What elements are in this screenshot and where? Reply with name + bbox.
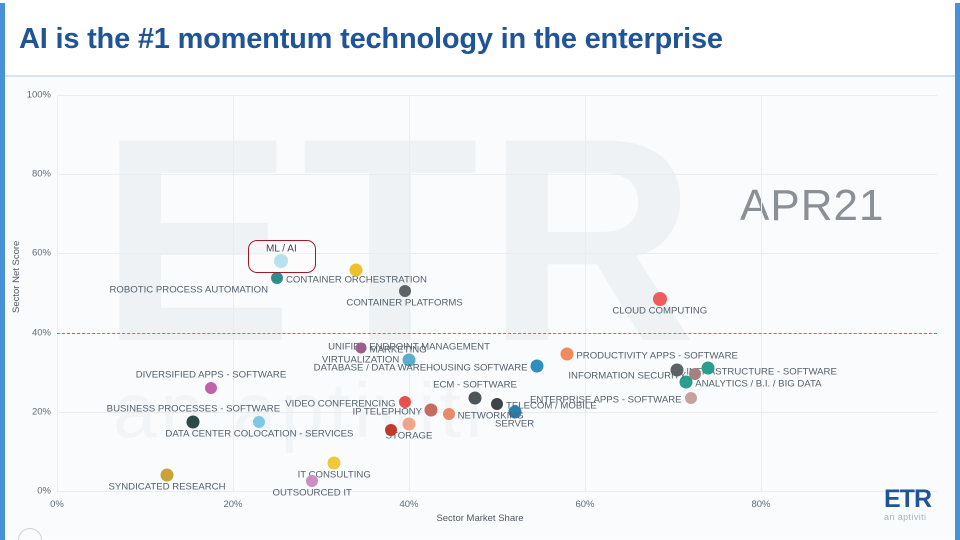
data-point[interactable] [271,272,283,284]
data-point-label: DATA CENTER COLOCATION - SERVICES [165,428,353,439]
data-point[interactable] [306,475,318,487]
data-point-label: ROBOTIC PROCESS AUTOMATION [110,284,269,295]
x-axis-tick: 60% [555,499,615,510]
data-point-label: PRODUCTIVITY APPS - SOFTWARE [576,351,738,362]
data-point[interactable] [355,343,366,354]
data-point[interactable] [469,391,482,404]
x-axis-tick: 80% [731,499,791,510]
data-point-label: DIVERSIFIED APPS - SOFTWARE [136,370,287,381]
data-point[interactable] [403,417,416,430]
data-point[interactable] [205,382,217,394]
y-axis-label: Sector Net Score [11,241,22,313]
data-point[interactable] [385,424,397,436]
x-gridline [761,95,762,491]
window-border-right [955,0,960,540]
data-point[interactable] [530,360,543,373]
data-point[interactable] [399,285,411,297]
slide-title-bar: AI is the #1 momentum technology in the … [5,3,955,77]
y-axis-tick: 80% [5,169,51,180]
plot-area: 0%20%40%60%80%100%0%20%40%60%80%CONTAINE… [57,95,937,491]
data-point[interactable] [253,416,265,428]
data-point[interactable] [702,362,715,375]
data-point[interactable] [653,292,667,306]
x-axis-tick: 40% [379,499,439,510]
etr-logo: ETR an aptiviti [884,487,950,529]
data-point-label: CONTAINER PLATFORMS [346,298,462,309]
data-point-label: CLOUD COMPUTING [612,305,707,316]
data-point[interactable] [187,415,200,428]
data-point[interactable] [350,264,363,277]
x-axis-label: Sector Market Share [5,513,955,524]
x-axis-tick: 0% [27,499,87,510]
y-gridline [57,253,937,254]
data-point[interactable] [425,403,438,416]
x-gridline [585,95,586,491]
data-point-label: ANALYTICS / B.I. / BIG DATA [695,379,821,390]
data-point[interactable] [491,398,503,410]
y-axis-tick: 100% [5,90,51,101]
etr-logo-mark: ETR [884,487,950,512]
page-title: AI is the #1 momentum technology in the … [19,23,723,56]
scatter-chart: ETR an aptiviti APR21 0%20%40%60%80%100%… [5,77,955,537]
y-axis-tick: 20% [5,406,51,417]
data-point-label: BUSINESS PROCESSES - SOFTWARE [107,403,280,414]
etr-logo-tagline: an aptiviti [884,512,950,523]
y-gridline [57,174,937,175]
data-point-label: INFORMATION SECURITY [568,371,686,382]
ml-ai-label: ML / AI [266,244,297,255]
data-point-label: ECM - SOFTWARE [433,379,517,390]
y-gridline [57,95,937,96]
data-point[interactable] [161,469,174,482]
data-point[interactable] [443,408,455,420]
y-axis-tick: 40% [5,327,51,338]
data-point[interactable] [685,392,697,404]
data-point-label: NETWORKING [458,410,524,421]
slide-canvas: AI is the #1 momentum technology in the … [0,0,960,540]
x-axis-tick: 20% [203,499,263,510]
y-axis-tick: 0% [5,486,51,497]
net-score-threshold [57,333,937,334]
data-point-label: SYNDICATED RESEARCH [108,482,225,493]
data-point[interactable] [689,368,701,380]
data-point[interactable] [328,457,341,470]
data-point-label: IP TELEPHONY [353,406,423,417]
x-gridline [57,95,58,491]
data-point[interactable] [561,348,574,361]
data-point-label: DATABASE / DATA WAREHOUSING SOFTWARE [314,363,528,374]
data-point-label: OUTSOURCED IT [272,488,351,499]
